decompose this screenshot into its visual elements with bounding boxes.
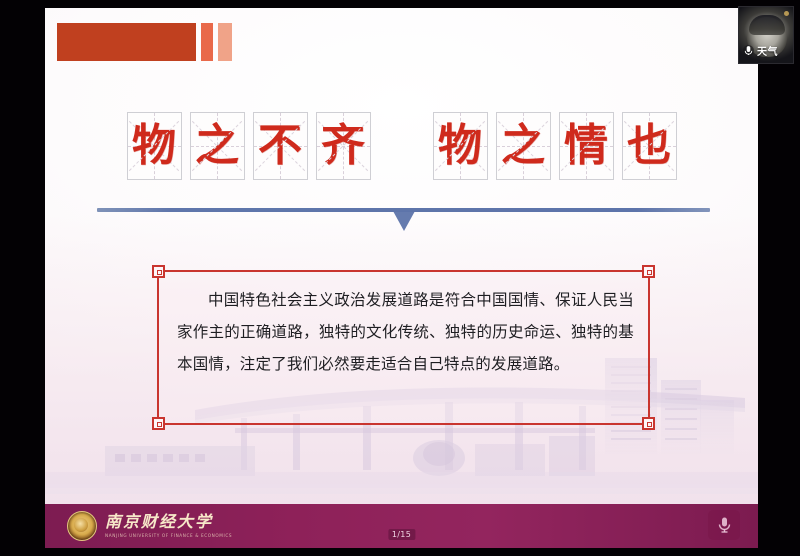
webcam-label: 天气 [743, 43, 778, 58]
title-glyph-cell: 不 [253, 112, 308, 180]
slide-decor-bars [57, 23, 232, 61]
title-glyph-cell: 情 [559, 112, 614, 180]
title-glyph-cell: 齐 [316, 112, 371, 180]
title-character: 情 [560, 113, 613, 179]
webcam-person-hair [749, 15, 785, 35]
university-seal-logo [67, 511, 97, 541]
webcam-thumbnail[interactable]: 天气 [738, 6, 794, 64]
decor-bar-primary [57, 23, 196, 61]
divider [97, 208, 710, 234]
title-character: 物 [128, 113, 181, 179]
page-indicator: 1/15 [388, 529, 415, 540]
title-glyph-cell: 物 [127, 112, 182, 180]
title-glyph-cell: 之 [496, 112, 551, 180]
slide-title: 物 之 不 齐 [45, 112, 758, 180]
title-character: 之 [191, 113, 244, 179]
title-character: 不 [254, 113, 307, 179]
screen-share-viewport: 物 之 不 齐 [0, 0, 800, 556]
slide-footer: 南京财经大学 NANJING UNIVERSITY OF FINANCE & E… [45, 504, 758, 548]
decor-bar-secondary [201, 23, 213, 61]
title-glyph-cell: 物 [433, 112, 488, 180]
title-glyph-cell: 也 [622, 112, 677, 180]
corner-ornament-bottom-right [642, 417, 655, 430]
title-character: 也 [623, 113, 676, 179]
corner-ornament-bottom-left [152, 417, 165, 430]
divider-pointer-icon [393, 211, 415, 231]
microphone-icon [717, 516, 732, 534]
university-name-en: NANJING UNIVERSITY OF FINANCE & ECONOMIC… [105, 534, 232, 538]
title-character: 物 [434, 113, 487, 179]
title-glyph-cell: 之 [190, 112, 245, 180]
webcam-participant-name: 天气 [757, 43, 778, 58]
title-character: 之 [497, 113, 550, 179]
mic-button[interactable] [708, 510, 740, 540]
webcam-status-dot [784, 11, 789, 16]
corner-ornament-top-right [642, 265, 655, 278]
title-character: 齐 [317, 113, 370, 179]
microphone-icon [743, 44, 754, 57]
university-name-block: 南京财经大学 NANJING UNIVERSITY OF FINANCE & E… [105, 514, 232, 538]
presentation-slide[interactable]: 物 之 不 齐 [45, 8, 758, 548]
slide-text-box: 中国特色社会主义政治发展道路是符合中国国情、保证人民当家作主的正确道路，独特的文… [157, 270, 650, 425]
university-branding: 南京财经大学 NANJING UNIVERSITY OF FINANCE & E… [67, 511, 232, 541]
title-group-two: 物 之 情 也 [433, 112, 677, 180]
decor-bar-tertiary [218, 23, 232, 61]
corner-ornament-top-left [152, 265, 165, 278]
slide-body-text: 中国特色社会主义政治发展道路是符合中国国情、保证人民当家作主的正确道路，独特的文… [177, 284, 634, 380]
university-name-cn: 南京财经大学 [105, 514, 232, 531]
title-group-one: 物 之 不 齐 [127, 112, 371, 180]
